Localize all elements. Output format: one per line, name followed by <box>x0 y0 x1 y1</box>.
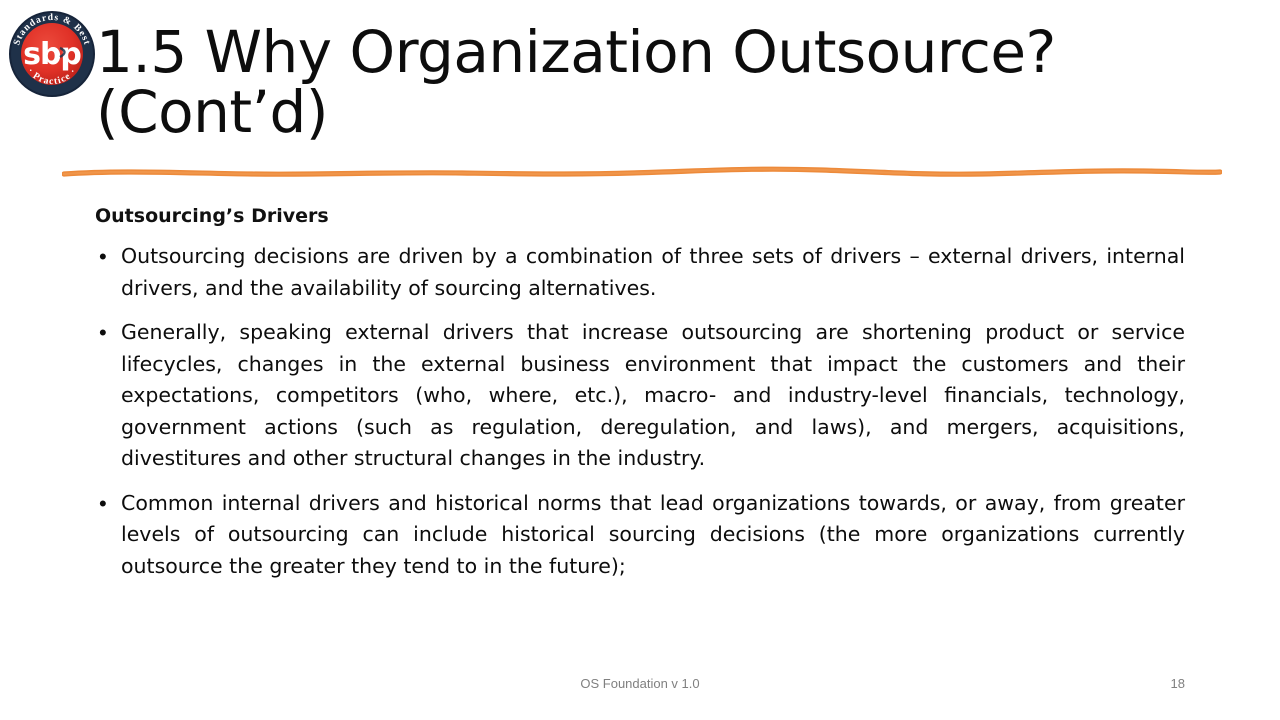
bullet-marker-icon: • <box>95 488 121 520</box>
bullet-marker-icon: • <box>95 241 121 273</box>
orange-wavy-divider <box>62 158 1222 184</box>
page-number: 18 <box>1171 676 1185 691</box>
slide-body: Outsourcing’s Drivers • Outsourcing deci… <box>95 203 1185 595</box>
svg-text:sbp: sbp <box>23 37 81 72</box>
list-item: • Common internal drivers and historical… <box>95 488 1185 583</box>
list-item: • Generally, speaking external drivers t… <box>95 317 1185 475</box>
sbp-logo: Standards & Best · Practice · sbp <box>6 4 98 102</box>
slide-title: 1.5 Why Organization Outsource? (Cont’d) <box>96 22 1226 142</box>
bullet-text: Common internal drivers and historical n… <box>121 488 1185 583</box>
bullet-text: Generally, speaking external drivers tha… <box>121 317 1185 475</box>
bullet-text: Outsourcing decisions are driven by a co… <box>121 241 1185 304</box>
title-line-1: 1.5 Why Organization Outsource? <box>96 22 1226 82</box>
footer-center-text: OS Foundation v 1.0 <box>0 676 1280 691</box>
list-item: • Outsourcing decisions are driven by a … <box>95 241 1185 304</box>
title-line-2: (Cont’d) <box>96 82 1226 142</box>
body-subheading: Outsourcing’s Drivers <box>95 203 1185 229</box>
bullet-marker-icon: • <box>95 317 121 349</box>
